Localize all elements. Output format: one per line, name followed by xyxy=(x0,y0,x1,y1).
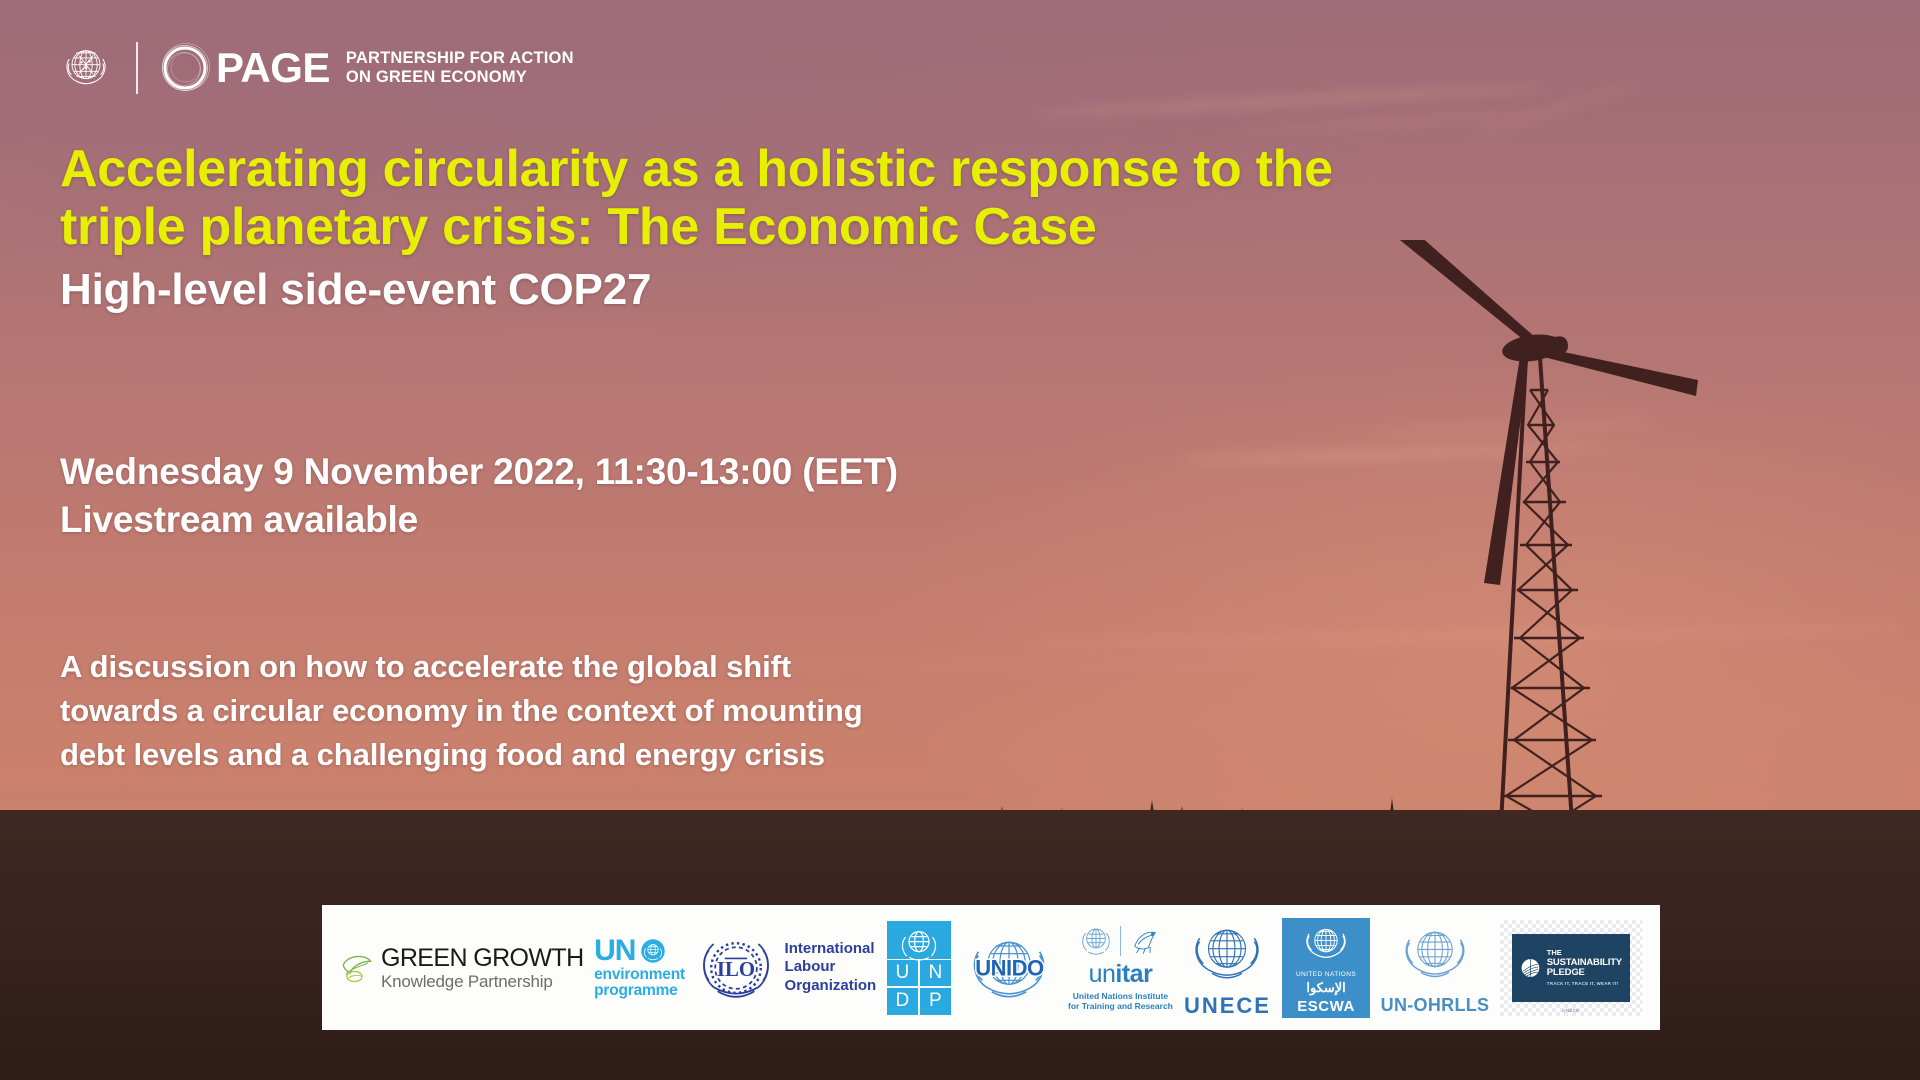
page-tagline: PARTNERSHIP FOR ACTION ON GREEN ECONOMY xyxy=(346,49,574,87)
unitar-sub-line-1: United Nations Institute xyxy=(1068,991,1173,1001)
partner-logo-unece: UNECE xyxy=(1183,905,1271,1030)
event-title-line-2: triple planetary crisis: The Economic Ca… xyxy=(60,198,1620,256)
partner-logo-ggkp: GREEN GROWTH Knowledge Partnership xyxy=(340,905,584,1030)
partner-logo-ilo: ILO International Labour Organization xyxy=(696,905,877,1030)
pledge-swirl-icon xyxy=(1520,953,1541,983)
partner-logo-bar: GREEN GROWTH Knowledge Partnership UN xyxy=(322,905,1660,1030)
undp-letter-grid: U N D P xyxy=(887,959,951,1015)
event-description: A discussion on how to accelerate the gl… xyxy=(60,645,863,777)
undp-letter-p: P xyxy=(919,987,951,1015)
partner-logo-unido: UNIDO xyxy=(961,905,1057,1030)
unitar-wordmark-bold: itar xyxy=(1115,960,1152,988)
ilo-line-2: Labour xyxy=(785,958,877,976)
unep-line-3: programme xyxy=(594,983,685,999)
ilo-line-1: International xyxy=(785,940,877,958)
partner-logo-sustainability-pledge: THE SUSTAINABILITY PLEDGE TRACK IT, TRAC… xyxy=(1500,905,1642,1030)
page-wordmark: PAGE xyxy=(216,47,330,89)
undp-letter-d: D xyxy=(887,987,919,1015)
un-wreath-icon xyxy=(1298,921,1354,969)
brand-divider xyxy=(136,42,138,94)
partner-logo-unep: UN environment programme xyxy=(594,905,685,1030)
event-headline-block: Accelerating circularity as a holistic r… xyxy=(60,140,1620,316)
event-poster: PAGE PARTNERSHIP FOR ACTION ON GREEN ECO… xyxy=(0,0,1920,1080)
partner-logo-unitar: unitar United Nations Institute for Trai… xyxy=(1068,905,1173,1030)
unitar-wordmark-light: un xyxy=(1089,960,1116,988)
event-datetime: Wednesday 9 November 2022, 11:30-13:00 (… xyxy=(60,448,898,496)
partner-logo-undp: U N D P xyxy=(887,905,951,1030)
un-ohrlls-wordmark: UN-OHRLLS xyxy=(1381,995,1490,1016)
green-leaf-icon xyxy=(340,951,374,985)
pledge-footer: UNECE xyxy=(1500,1008,1642,1013)
livestream-note: Livestream available xyxy=(60,496,898,544)
ilo-line-3: Organization xyxy=(785,977,877,995)
event-subtitle: High-level side-event COP27 xyxy=(60,264,1620,316)
unitar-wordmark: unitar xyxy=(1089,960,1153,989)
event-description-line-2: towards a circular economy in the contex… xyxy=(60,689,863,733)
un-emblem-icon xyxy=(58,40,114,96)
unece-wordmark: UNECE xyxy=(1184,993,1271,1019)
escwa-line-top: UNITED NATIONS xyxy=(1296,971,1356,978)
ggkp-line-2: Knowledge Partnership xyxy=(381,973,584,990)
page-tagline-line-2: ON GREEN ECONOMY xyxy=(346,68,574,87)
unitar-dove-icon xyxy=(1128,924,1162,958)
event-description-line-1: A discussion on how to accelerate the gl… xyxy=(60,645,863,689)
pledge-line-4: TRACK IT, TRACE IT, WEAR IT! xyxy=(1547,981,1622,986)
ggkp-line-1: GREEN GROWTH xyxy=(381,946,584,971)
partner-logo-escwa: UNITED NATIONS الإسكوا ESCWA xyxy=(1282,905,1370,1030)
undp-letter-n: N xyxy=(919,959,951,987)
page-tagline-line-1: PARTNERSHIP FOR ACTION xyxy=(346,49,574,68)
undp-letter-u: U xyxy=(887,959,919,987)
event-title-line-1: Accelerating circularity as a holistic r… xyxy=(60,140,1620,198)
page-brand-header: PAGE PARTNERSHIP FOR ACTION ON GREEN ECO… xyxy=(58,40,574,96)
svg-text:ILO: ILO xyxy=(716,958,754,981)
unitar-sub-line-2: for Training and Research xyxy=(1068,1001,1173,1011)
event-description-line-3: debt levels and a challenging food and e… xyxy=(60,733,863,777)
unep-line-2: environment xyxy=(594,967,685,983)
event-title: Accelerating circularity as a holistic r… xyxy=(60,140,1620,256)
un-wreath-icon xyxy=(1183,917,1271,991)
unido-wordmark: UNIDO xyxy=(975,955,1043,981)
event-datetime-block: Wednesday 9 November 2022, 11:30-13:00 (… xyxy=(60,448,898,544)
unep-un: UN xyxy=(594,935,635,967)
pledge-line-3: PLEDGE xyxy=(1547,968,1622,979)
un-globe-icon xyxy=(640,938,666,964)
partner-logo-un-ohrlls: UN-OHRLLS xyxy=(1381,905,1490,1030)
escwa-line-arabic: الإسكوا xyxy=(1306,980,1345,996)
un-wreath-icon xyxy=(1394,920,1476,992)
page-ring-icon xyxy=(160,43,210,93)
escwa-line-en: ESCWA xyxy=(1297,998,1355,1015)
un-globe-icon xyxy=(1079,924,1113,958)
ilo-wreath-icon: ILO xyxy=(696,928,776,1008)
